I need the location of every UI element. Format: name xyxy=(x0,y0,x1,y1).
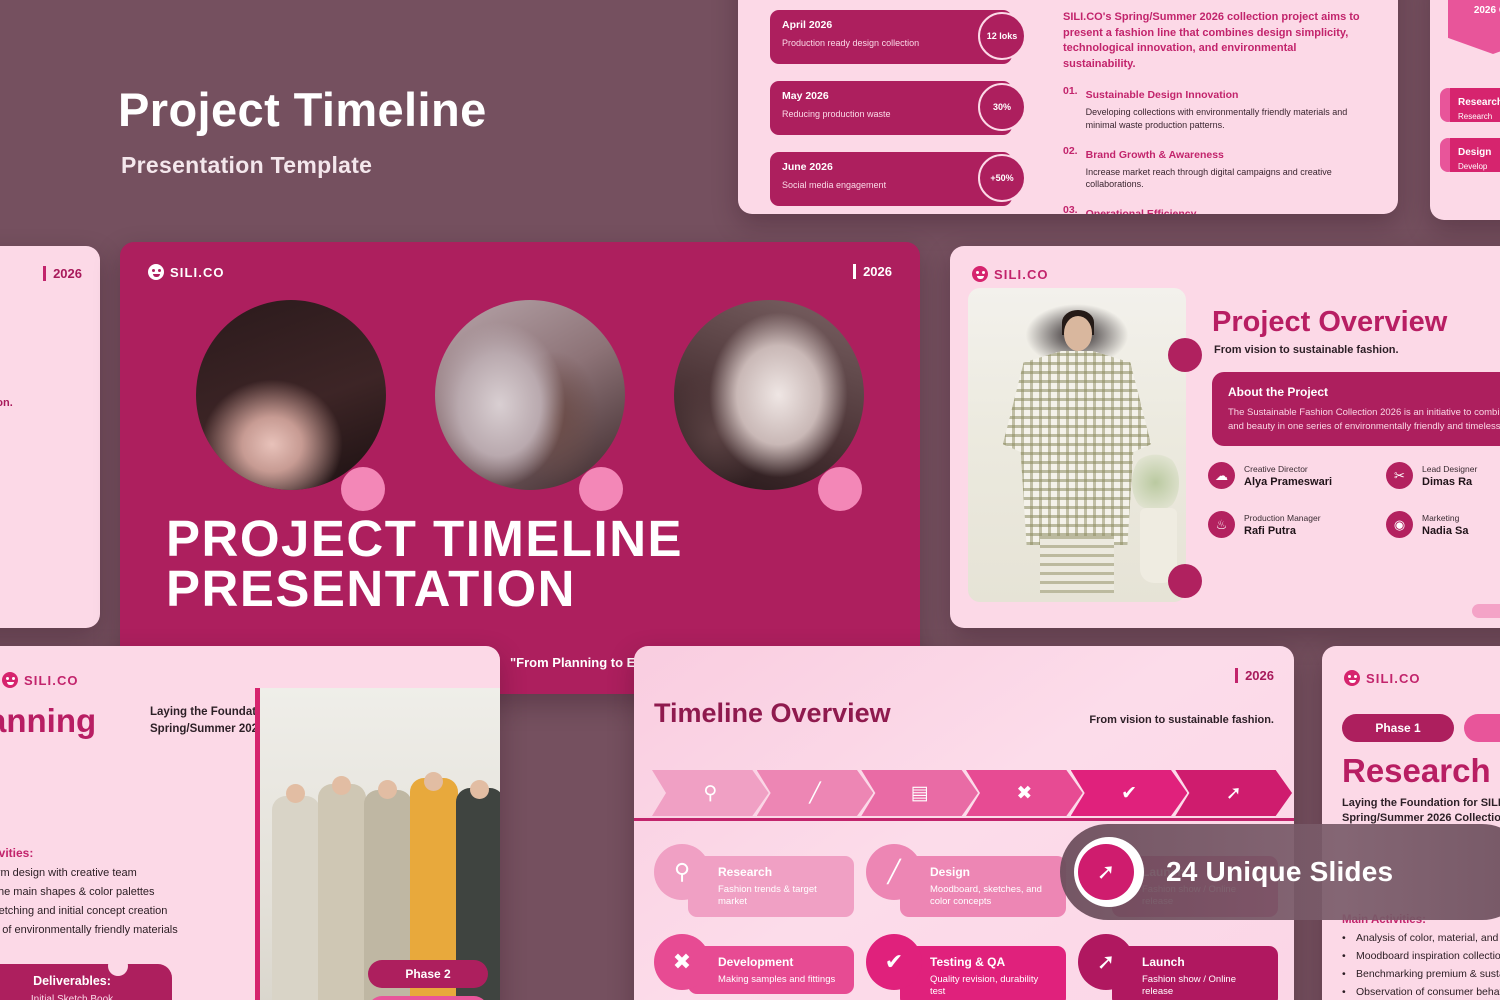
slides-count-label: 24 Unique Slides xyxy=(1166,856,1393,888)
objective-title: Operational Efficiency xyxy=(1086,208,1197,214)
goal-month: April 2026 xyxy=(782,19,1000,31)
bar-desc: Research xyxy=(1458,112,1500,121)
card-knob xyxy=(108,956,128,976)
goal-metric: 12 loks xyxy=(978,12,1026,60)
hero-photo-3 xyxy=(674,300,864,490)
card-desc: Fashion trends & target market xyxy=(718,884,844,909)
objective-title: Sustainable Design Innovation xyxy=(1086,89,1239,101)
goal-row: June 2026 Social media engagement +50% xyxy=(770,152,1012,206)
goals-intro: SILI.CO's Spring/Summer 2026 collection … xyxy=(1063,10,1363,72)
plant-decor xyxy=(1132,451,1180,514)
slide-fragment-top-right[interactable]: 2026 Q4 Research Research Design Develop xyxy=(1430,0,1500,220)
card-title: Launch xyxy=(1142,955,1185,969)
camera-icon: ◉ xyxy=(1386,511,1413,538)
objective-item: 02. Brand Growth & Awareness Increase ma… xyxy=(1063,145,1363,191)
screenshot-root: Project Timeline Presentation Template A… xyxy=(0,0,1500,1000)
hero-photo-item xyxy=(180,300,403,505)
slide-goals-objectives[interactable]: April 2026 Production ready design colle… xyxy=(738,0,1398,214)
deliverables-card: Deliverables: Initial Sketch Book Color … xyxy=(0,964,172,1000)
year-label: 2026 xyxy=(863,264,892,279)
timeline-subtitle: From vision to sustainable fashion. xyxy=(1089,714,1274,726)
scissors-needle-icon: ✖ xyxy=(654,934,710,990)
activity-item: nstorm design with creative team xyxy=(0,867,178,879)
slide-project-overview[interactable]: SILI.CO Project Overview From vision to … xyxy=(950,246,1500,628)
role-title: Production Manager xyxy=(1244,513,1321,523)
quarter-pennant: 2026 Q4 xyxy=(1448,0,1500,54)
scissors-needle-icon: ✖ xyxy=(966,770,1083,816)
activity-item: ore the main shapes & color palettes xyxy=(0,886,178,898)
goal-desc: Production ready design collection xyxy=(782,38,1000,48)
slide-fragment-left[interactable]: 2026 m vision totainable fashion. xyxy=(0,246,100,628)
role-item: ✂ Lead Designer Dimas Ra xyxy=(1386,462,1500,489)
timeline-card: ✔ Testing & QA Quality revision, durabil… xyxy=(866,934,1066,1000)
card-desc: Moodboard, sketches, and color concepts xyxy=(930,884,1056,909)
planning-activities: Activities: nstorm design with creative … xyxy=(0,846,178,936)
rocket-icon: ➚ xyxy=(1175,770,1292,816)
research-subtitle: Laying the Foundation for SILI.CO's Spri… xyxy=(1342,796,1500,827)
search-icon: ⚲ xyxy=(652,770,769,816)
role-item: ☁ Creative Director Alya Prameswari xyxy=(1208,462,1370,489)
check-circle-icon: ✔ xyxy=(866,934,922,990)
title-line-2: PRESENTATION xyxy=(166,564,683,614)
year-badge: 2026 xyxy=(1235,668,1274,683)
year-badge: 2026 xyxy=(43,266,82,281)
model-dress xyxy=(1003,351,1151,546)
model-pants xyxy=(1040,536,1114,593)
card-desc: Quality revision, durability test xyxy=(930,974,1056,999)
compass-icon: ♨ xyxy=(1208,511,1235,538)
title-line-1: PROJECT TIMELINE xyxy=(166,514,683,564)
timeline-card: ⚲ Research Fashion trends & target marke… xyxy=(654,844,854,916)
slide-research[interactable]: SILI.CO Phase 1 We Research & Laying the… xyxy=(1322,646,1500,1000)
bar-title: Design xyxy=(1458,147,1491,158)
phase-bar: Design Develop xyxy=(1440,138,1500,172)
role-item: ♨ Production Manager Rafi Putra xyxy=(1208,511,1370,538)
about-body: The Sustainable Fashion Collection 2026 … xyxy=(1228,406,1500,434)
page-title: Project Timeline xyxy=(118,82,487,137)
goal-row: April 2026 Production ready design colle… xyxy=(770,10,1012,64)
about-card: About the Project The Sustainable Fashio… xyxy=(1212,372,1500,446)
phase-bar: Research Research xyxy=(1440,88,1500,122)
year-label: 2026 xyxy=(1245,668,1274,683)
objective-body: Developing collections with environmenta… xyxy=(1086,106,1363,131)
model-head xyxy=(1064,316,1092,351)
phase-badge: Phase 2 xyxy=(368,960,488,988)
brand-name: SILI.CO xyxy=(1366,671,1421,686)
rocket-icon: ➚ xyxy=(1078,934,1134,990)
role-name: Rafi Putra xyxy=(1244,525,1321,537)
objective-item: 01. Sustainable Design Innovation Develo… xyxy=(1063,85,1363,131)
overview-subtitle: From vision to sustainable fashion. xyxy=(1214,344,1399,356)
brand-logo: SILI.CO xyxy=(972,266,1049,282)
activity-item: Moodboard inspiration collection & resea… xyxy=(1342,950,1500,962)
brand-logo: SILI.CO xyxy=(2,672,79,688)
fragment-text: m vision totainable fashion. xyxy=(0,380,13,412)
year-bar-icon xyxy=(1235,668,1238,683)
year-badge: 2026 xyxy=(853,264,892,279)
card-desc: Fashion show / Online release xyxy=(1142,974,1268,999)
timeline-card: ✖ Development Making samples and fitting… xyxy=(654,934,854,1000)
accent-dot xyxy=(579,467,623,511)
overview-photo xyxy=(968,288,1186,602)
hero-photo-1 xyxy=(196,300,386,490)
goal-row: May 2026 Reducing production waste 30% xyxy=(770,81,1012,135)
objective-body: Increase market reach through digital ca… xyxy=(1086,166,1363,191)
chevron-strip: ⚲ ╱ ▤ ✖ ✔ ➚ xyxy=(652,770,1280,816)
brand-mark-icon xyxy=(2,672,18,688)
accent-divider xyxy=(255,688,260,1000)
goal-desc: Social media engagement xyxy=(782,180,1000,190)
role-title: Lead Designer xyxy=(1422,464,1477,474)
role-name: Alya Prameswari xyxy=(1244,476,1332,488)
slide-title-text: PROJECT TIMELINE PRESENTATION xyxy=(166,514,683,614)
timeline-card: ╱ Design Moodboard, sketches, and color … xyxy=(866,844,1066,916)
research-badges: Phase 1 We xyxy=(1342,714,1500,742)
hero-photo-row xyxy=(180,300,880,505)
accent-dot xyxy=(1168,564,1202,598)
activities-heading: Activities: xyxy=(0,846,178,860)
research-activities: Main Activities: Analysis of color, mate… xyxy=(1342,914,1500,998)
goal-list: April 2026 Production ready design colle… xyxy=(770,10,1012,214)
bar-desc: Develop xyxy=(1458,162,1500,171)
objective-item: 03. Operational Efficiency Increase prod… xyxy=(1063,204,1363,214)
brush-icon: ╱ xyxy=(757,770,874,816)
deliverables-heading: Deliverables: xyxy=(0,974,172,988)
year-bar-icon xyxy=(853,264,856,279)
planning-title: anning xyxy=(0,702,96,740)
role-name: Nadia Sa xyxy=(1422,525,1468,537)
card-title: Design xyxy=(930,865,970,879)
research-title: Research & xyxy=(1342,752,1500,790)
hero-photo-2 xyxy=(435,300,625,490)
timeline-card: ➚ Launch Fashion show / Online release xyxy=(1078,934,1278,1000)
hero-photo-item xyxy=(657,300,880,505)
overview-title: Project Overview xyxy=(1212,306,1447,339)
brand-logo: SILI.CO xyxy=(1344,670,1421,686)
phase-badge: Phase 1 xyxy=(1342,714,1454,742)
activity-item: Observation of consumer behavior trends xyxy=(1342,986,1500,998)
objective-number: 01. xyxy=(1063,85,1078,131)
week-badge: Week 3–4 xyxy=(368,996,488,1000)
goal-desc: Reducing production waste xyxy=(782,109,1000,119)
deliverable-item: Initial Sketch Book xyxy=(0,994,172,1000)
planning-badges: Phase 2 Week 3–4 xyxy=(368,960,488,1000)
rocket-icon: ➚ xyxy=(1078,844,1134,900)
year-bar-icon xyxy=(43,266,46,281)
activity-item: al sketching and initial concept creatio… xyxy=(0,905,178,917)
role-title: Marketing xyxy=(1422,513,1468,523)
objectives-column: SILI.CO's Spring/Summer 2026 collection … xyxy=(1063,10,1363,214)
bar-title: Research xyxy=(1458,97,1500,108)
brand-logo: SILI.CO xyxy=(148,264,225,280)
role-item: ◉ Marketing Nadia Sa xyxy=(1386,511,1500,538)
accent-dot xyxy=(1168,338,1202,372)
brand-name: SILI.CO xyxy=(994,267,1049,282)
brand-mark-icon xyxy=(972,266,988,282)
card-title: Testing & QA xyxy=(930,955,1005,969)
objective-number: 02. xyxy=(1063,145,1078,191)
brand-mark-icon xyxy=(1344,670,1360,686)
brand-name: SILI.CO xyxy=(170,265,225,280)
card-title: Development xyxy=(718,955,793,969)
card-title: Research xyxy=(718,865,772,879)
objective-title: Brand Growth & Awareness xyxy=(1086,149,1224,161)
hero-photo-item xyxy=(419,300,642,505)
paint-bucket-icon: ▤ xyxy=(861,770,978,816)
card-desc: Making samples and fittings xyxy=(718,974,844,986)
chevron-rule xyxy=(634,818,1294,821)
search-icon: ⚲ xyxy=(654,844,710,900)
page-subtitle: Presentation Template xyxy=(121,152,372,179)
week-badge: We xyxy=(1464,714,1500,742)
goal-month: May 2026 xyxy=(782,90,1000,102)
check-circle-icon: ✔ xyxy=(1071,770,1188,816)
activity-item: Benchmarking premium & sustainable brand… xyxy=(1342,968,1500,980)
role-name: Dimas Ra xyxy=(1422,476,1477,488)
brand-name: SILI.CO xyxy=(24,673,79,688)
goal-month: June 2026 xyxy=(782,161,1000,173)
slide-title[interactable]: SILI.CO 2026 PROJECT TIMELINE PRESENTATI… xyxy=(120,242,920,694)
brand-mark-icon xyxy=(148,264,164,280)
objective-number: 03. xyxy=(1063,204,1078,214)
brush-icon: ╱ xyxy=(866,844,922,900)
activity-item: Analysis of color, material, and silhoue… xyxy=(1342,932,1500,944)
role-title: Creative Director xyxy=(1244,464,1332,474)
planning-photo xyxy=(260,688,500,1000)
goal-metric: 30% xyxy=(978,83,1026,131)
slide-planning[interactable]: SILI.CO anning Laying the Foundation for… xyxy=(0,646,500,1000)
slide-timeline-overview[interactable]: 2026 Timeline Overview From vision to su… xyxy=(634,646,1294,1000)
decor-chip xyxy=(1472,604,1500,618)
goal-metric: +50% xyxy=(978,154,1026,202)
scissors-pen-icon: ✂ xyxy=(1386,462,1413,489)
year-label: 2026 xyxy=(53,266,82,281)
activity-item: ction of environmentally friendly materi… xyxy=(0,924,178,936)
accent-dot xyxy=(818,467,862,511)
roles-grid: ☁ Creative Director Alya Prameswari ✂ Le… xyxy=(1208,462,1500,538)
hanger-icon: ☁ xyxy=(1208,462,1235,489)
about-heading: About the Project xyxy=(1228,385,1500,399)
timeline-title: Timeline Overview xyxy=(654,698,891,729)
accent-dot xyxy=(341,467,385,511)
